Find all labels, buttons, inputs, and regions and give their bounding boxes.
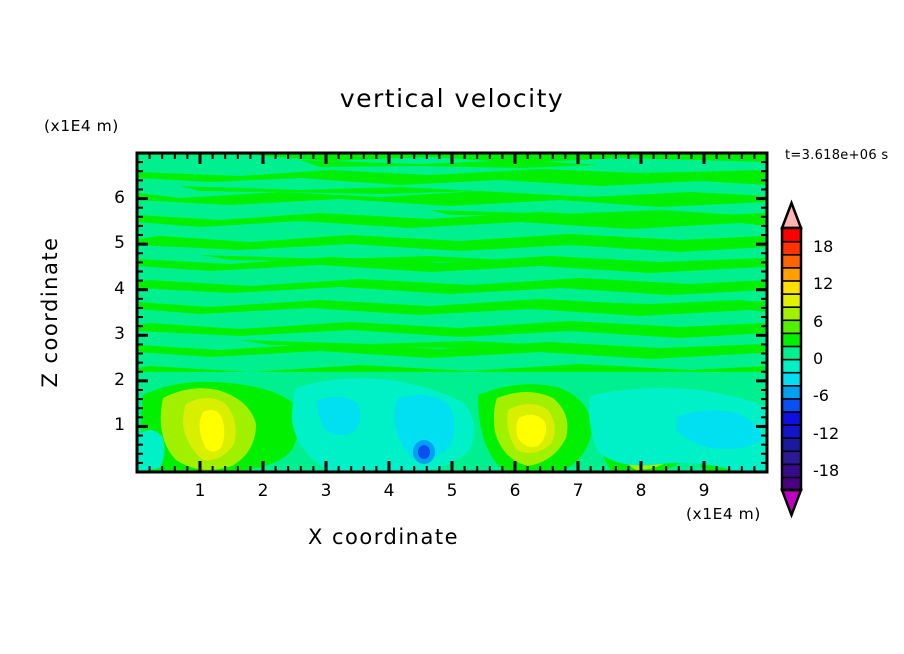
colorbar-tick-label: 0 <box>813 349 823 368</box>
colorbar-tick-label: 6 <box>813 312 823 331</box>
colorbar-bands <box>782 228 801 491</box>
colorbar-band <box>782 228 801 242</box>
x-tick-label: 1 <box>180 481 220 501</box>
colorbar-band <box>782 267 801 281</box>
x-tick-label: 9 <box>684 481 724 501</box>
colorbar-tick-label: -6 <box>813 386 829 405</box>
x-tick-label: 5 <box>432 481 472 501</box>
y-tick-label: 3 <box>87 324 125 344</box>
colorbar-under-arrow <box>782 490 801 515</box>
y-tick-label: 1 <box>87 415 125 435</box>
colorbar-band <box>782 477 801 491</box>
x-tick-label: 7 <box>558 481 598 501</box>
colorbar-tick-label: 12 <box>813 274 833 293</box>
colorbar-band <box>782 425 801 439</box>
colorbar-band <box>782 294 801 308</box>
contour-field-boundary-layer <box>137 372 767 472</box>
colorbar-tick-label: 18 <box>813 237 833 256</box>
colorbar-band <box>782 385 801 399</box>
colorbar-band <box>782 241 801 255</box>
figure-canvas: vertical velocity (x1E4 m) (x1E4 m) X co… <box>0 0 904 654</box>
colorbar-band <box>782 411 801 425</box>
colorbar-band <box>782 464 801 478</box>
x-tick-label: 2 <box>243 481 283 501</box>
y-tick-label: 6 <box>87 188 125 208</box>
colorbar-band <box>782 451 801 465</box>
colorbar-tick-label: -12 <box>813 424 839 443</box>
colorbar[interactable] <box>782 203 801 515</box>
colorbar-band <box>782 398 801 412</box>
colorbar-band <box>782 346 801 360</box>
colorbar-band <box>782 320 801 334</box>
colorbar-band <box>782 359 801 373</box>
y-tick-label: 4 <box>87 279 125 299</box>
x-tick-label: 6 <box>495 481 535 501</box>
colorbar-tick-label: -18 <box>813 461 839 480</box>
x-tick-label: 4 <box>369 481 409 501</box>
plot-svg <box>0 0 904 654</box>
y-tick-label: 5 <box>87 233 125 253</box>
colorbar-band <box>782 254 801 268</box>
colorbar-over-arrow <box>782 203 801 228</box>
colorbar-band <box>782 333 801 347</box>
x-tick-label: 3 <box>306 481 346 501</box>
y-tick-label: 2 <box>87 370 125 390</box>
colorbar-band <box>782 438 801 452</box>
x-tick-label: 8 <box>621 481 661 501</box>
contour-core-darkblue <box>418 445 430 459</box>
colorbar-band <box>782 280 801 294</box>
colorbar-band <box>782 372 801 386</box>
colorbar-band <box>782 307 801 321</box>
